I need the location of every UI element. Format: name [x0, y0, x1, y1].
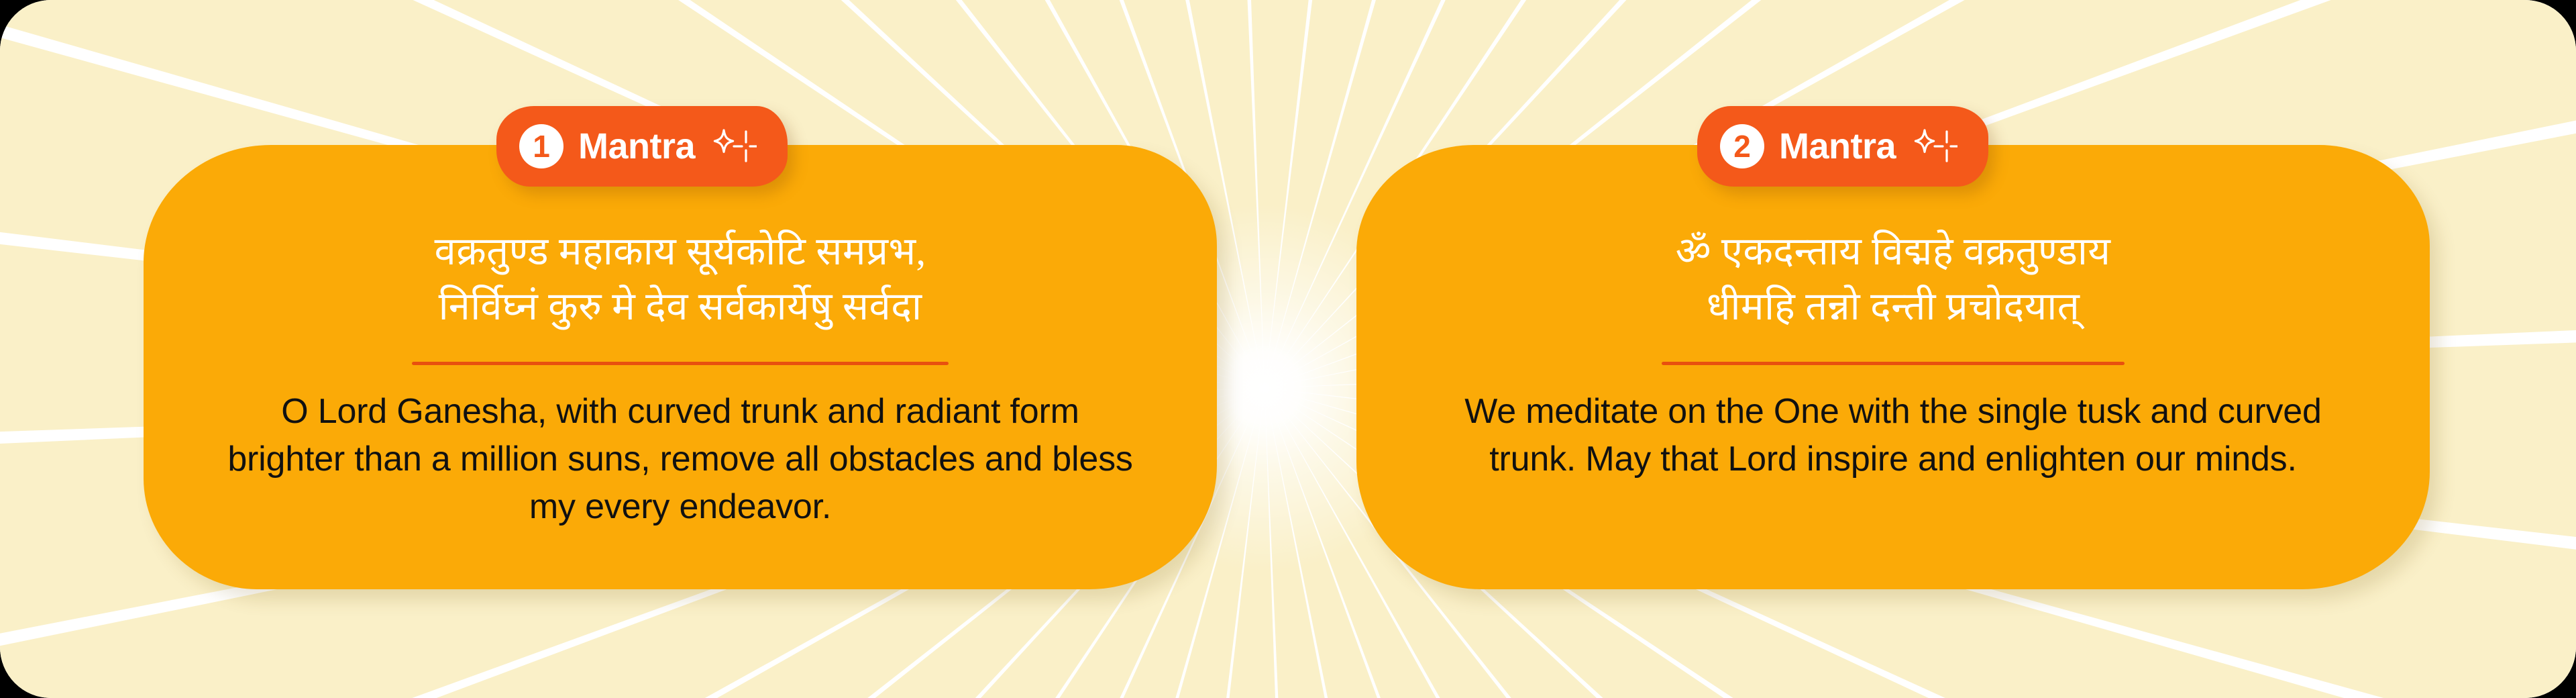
card-divider-1: [412, 362, 949, 365]
mantra-card-1: वक्रतुण्ड महाकाय सूर्यकोटि समप्रभ, निर्व…: [144, 145, 1217, 589]
mantra-badge-1[interactable]: 1 Mantra: [496, 106, 788, 187]
card-divider-2: [1662, 362, 2125, 365]
mantra-sanskrit-text-2: ॐ एकदन्ताय विद्महे वक्रतुण्डाय धीमहि तन्…: [1676, 224, 2111, 335]
sparkle-plus-icon: [1913, 126, 1957, 166]
mantra-number-2: 2: [1720, 124, 1764, 168]
mantra-badge-2[interactable]: 2 Mantra: [1697, 106, 1988, 187]
mantra-translation-text-2: We meditate on the One with the single t…: [1437, 388, 2349, 483]
mantra-badge-label-1: Mantra: [578, 126, 695, 167]
mantra-sanskrit-text-1: वक्रतुण्ड महाकाय सूर्यकोटि समप्रभ, निर्व…: [435, 224, 926, 335]
mantra-card-2: ॐ एकदन्ताय विद्महे वक्रतुण्डाय धीमहि तन्…: [1356, 145, 2430, 589]
mantra-translation-text-1: O Lord Ganesha, with curved trunk and ra…: [224, 388, 1136, 532]
mantra-card-canvas: वक्रतुण्ड महाकाय सूर्यकोटि समप्रभ, निर्व…: [0, 0, 2576, 698]
mantra-number-1: 1: [519, 124, 563, 168]
sparkle-plus-icon: [712, 126, 757, 166]
mantra-badge-label-2: Mantra: [1779, 126, 1896, 167]
